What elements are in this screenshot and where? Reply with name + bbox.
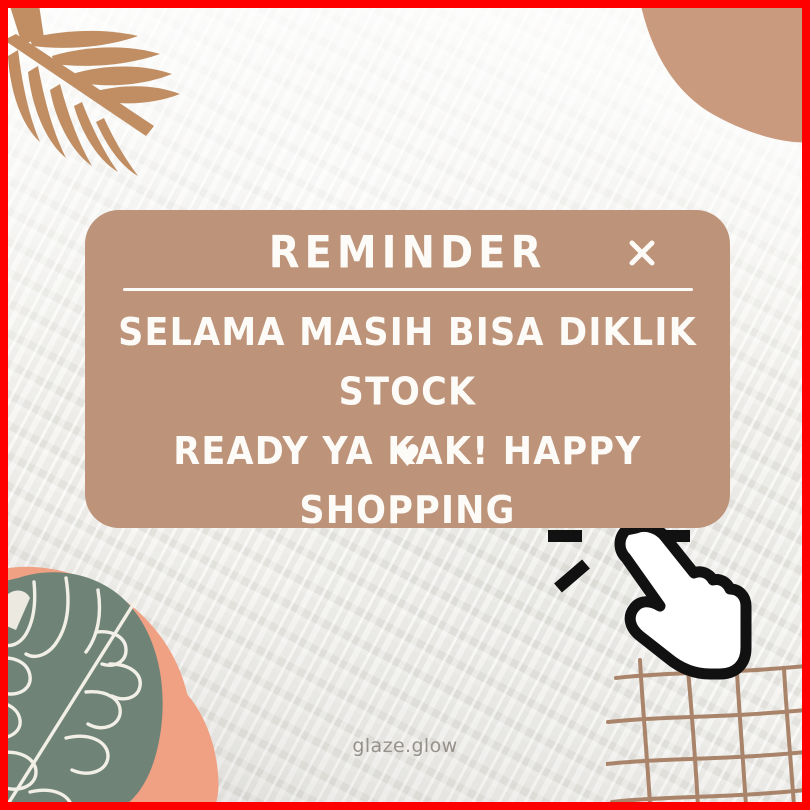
reminder-card: REMINDER SELAMA MASIH BISA DIKLIK STOCK … (85, 210, 730, 528)
watermark: glaze.glow (8, 735, 802, 757)
card-message: SELAMA MASIH BISA DIKLIK STOCK READY YA … (99, 303, 716, 541)
title-divider (123, 288, 693, 291)
palm-frond-top-left (8, 8, 256, 204)
card-message-line-1: SELAMA MASIH BISA DIKLIK STOCK (99, 303, 716, 422)
heart-icon: ♥ (85, 442, 730, 472)
hand-drawn-grid-bottom-right (606, 638, 802, 802)
pointing-hand-cursor (596, 522, 756, 682)
poster-frame: REMINDER SELAMA MASIH BISA DIKLIK STOCK … (0, 0, 810, 810)
salmon-leaf-bottom-left (8, 564, 288, 802)
poster-canvas: REMINDER SELAMA MASIH BISA DIKLIK STOCK … (8, 8, 802, 802)
monstera-leaf-bottom-left (8, 568, 244, 802)
close-icon[interactable] (625, 236, 659, 270)
